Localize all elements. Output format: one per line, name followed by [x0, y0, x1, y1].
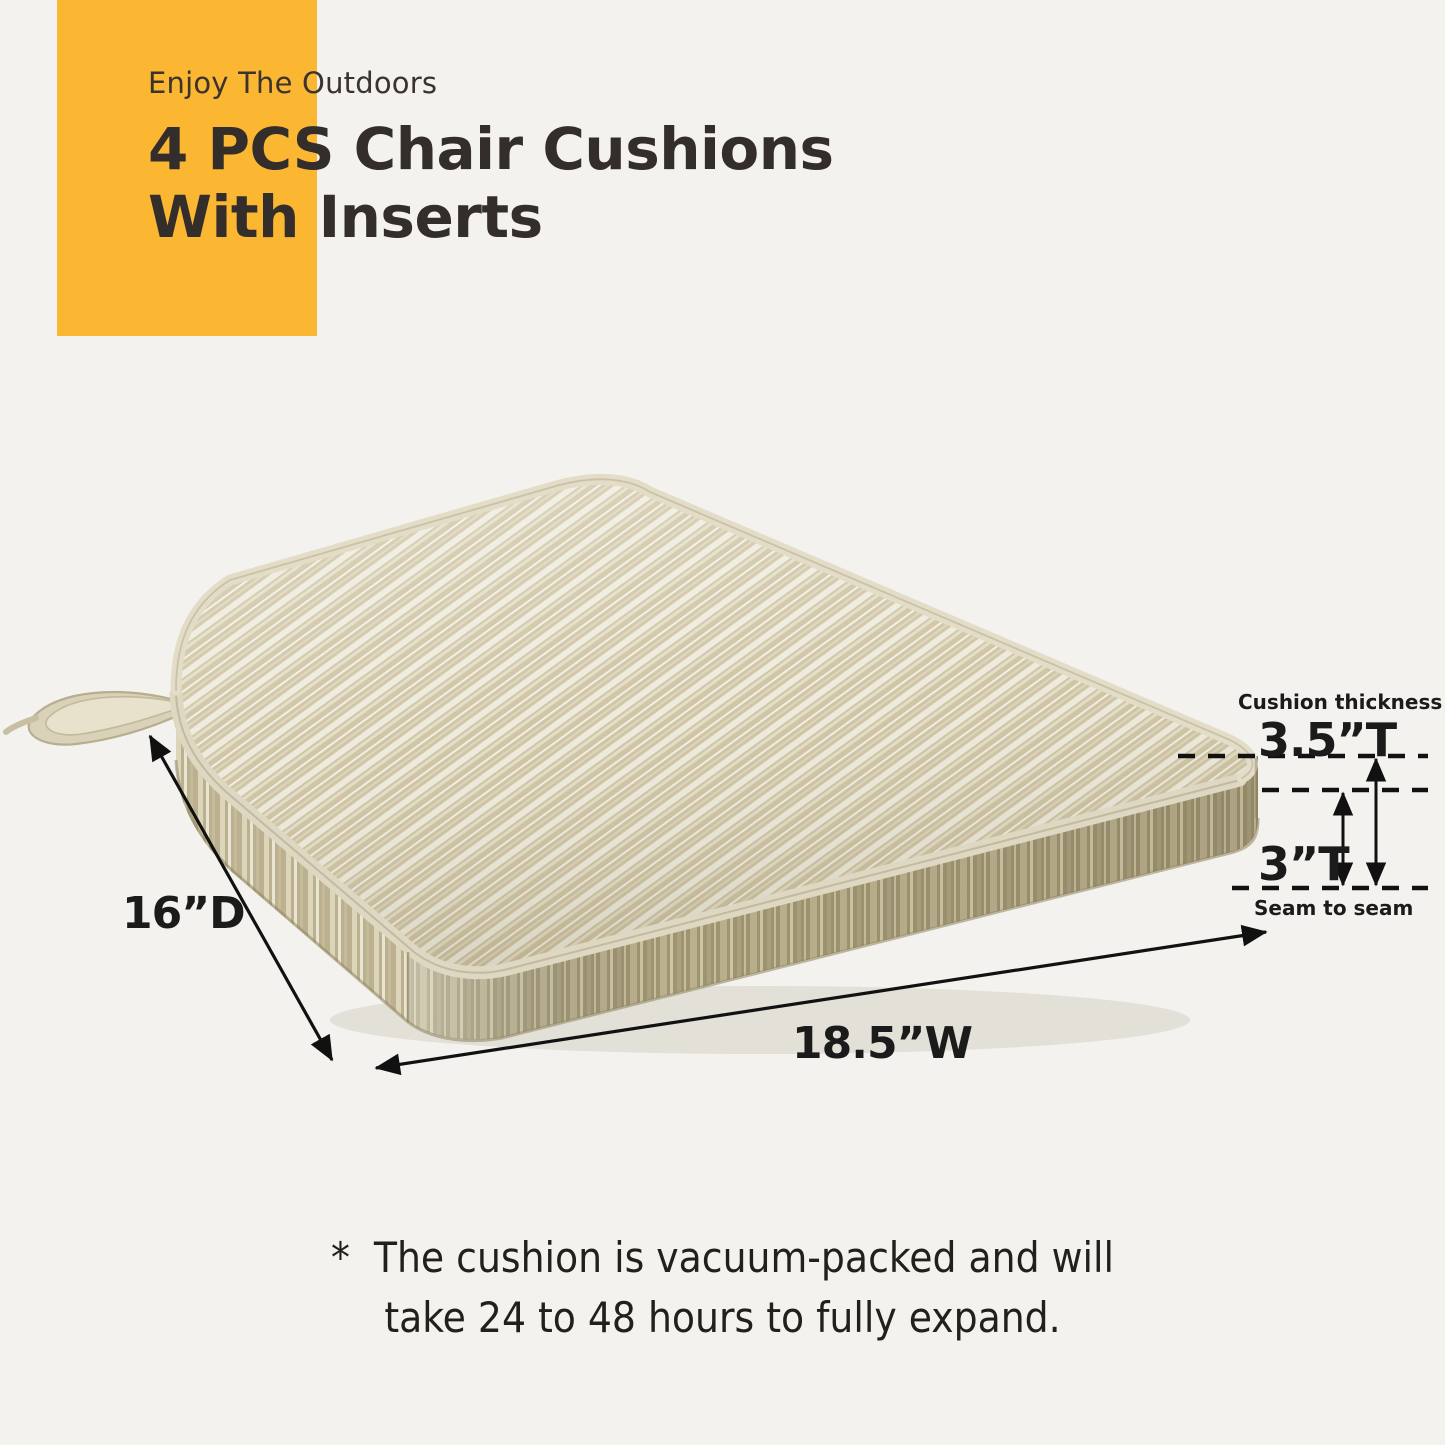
eyebrow-text: Enjoy The Outdoors: [148, 66, 1148, 101]
footnote: * The cushion is vacuum-packed and will …: [0, 1228, 1445, 1347]
total-thickness-label: 3.5”T: [1258, 713, 1396, 767]
footnote-line-2: take 24 to 48 hours to fully expand.: [0, 1288, 1445, 1348]
seam-caption: Seam to seam: [1254, 896, 1413, 920]
product-infographic: Enjoy The Outdoors 4 PCS Chair Cushions …: [0, 0, 1445, 1445]
page-title: 4 PCS Chair Cushions With Inserts: [148, 115, 1148, 252]
tie-strap-icon: [6, 692, 186, 745]
footnote-marker: *: [331, 1233, 350, 1282]
headline-line-2: With Inserts: [148, 183, 1148, 251]
headline-line-1: 4 PCS Chair Cushions: [148, 115, 834, 183]
width-label: 18.5”W: [792, 1018, 972, 1069]
footnote-line-1: * The cushion is vacuum-packed and will: [0, 1228, 1445, 1288]
header: Enjoy The Outdoors 4 PCS Chair Cushions …: [148, 66, 1148, 252]
seam-thickness-label: 3”T: [1258, 837, 1349, 891]
depth-label: 16”D: [122, 888, 245, 939]
footnote-text-1: The cushion is vacuum-packed and will: [374, 1233, 1114, 1282]
thickness-caption: Cushion thickness: [1238, 690, 1442, 714]
